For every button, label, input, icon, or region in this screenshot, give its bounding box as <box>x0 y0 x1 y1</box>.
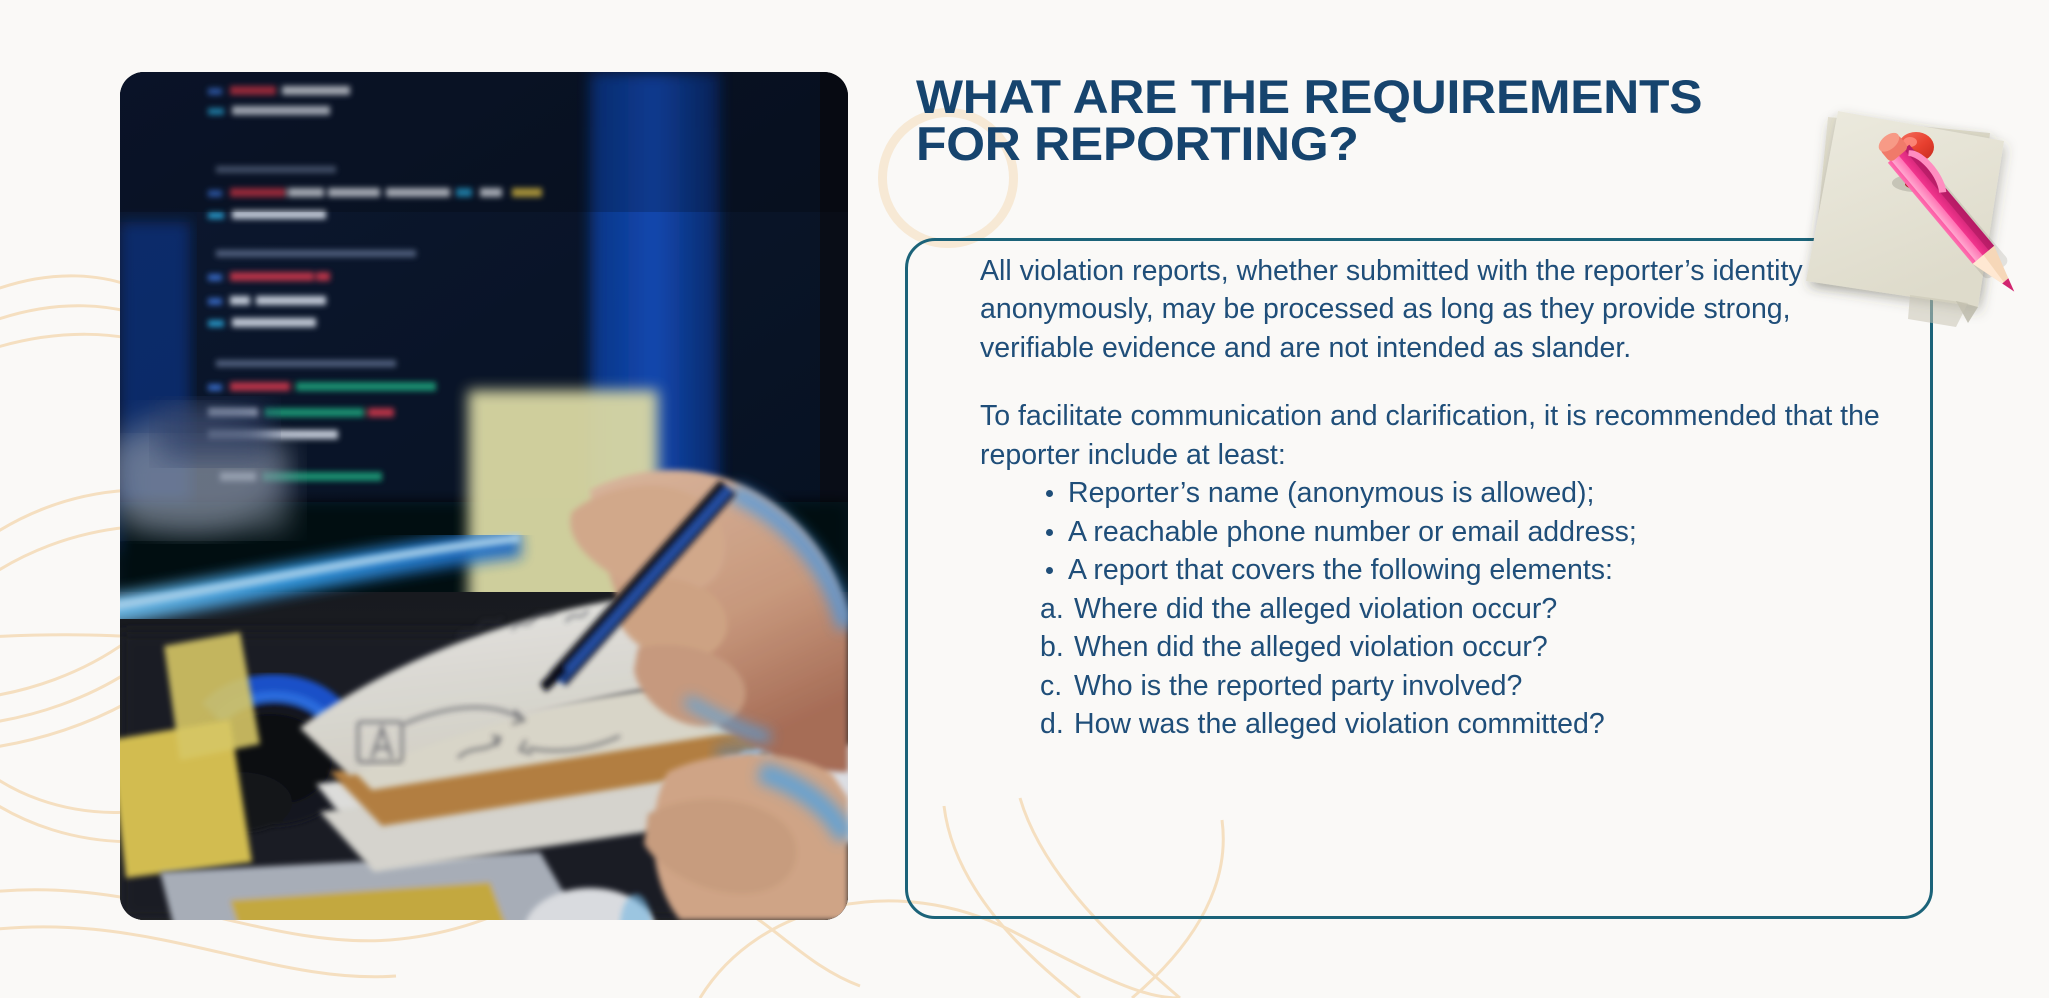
desk-photo <box>120 72 848 920</box>
paragraph-recommendation: To facilitate communication and clarific… <box>980 397 1880 474</box>
list-item: Who is the reported party involved? <box>1040 667 1880 705</box>
paragraph-spacer <box>980 367 1880 397</box>
list-item: How was the alleged violation committed? <box>1040 705 1880 743</box>
list-item: Where did the alleged violation occur? <box>1040 590 1880 628</box>
info-card-content: All violation reports, whether submitted… <box>980 252 1880 744</box>
list-item: Reporter’s name (anonymous is allowed); <box>1046 474 1880 512</box>
requirements-list: Reporter’s name (anonymous is allowed); … <box>980 474 1880 589</box>
page-title-line-2: FOR REPORTING? <box>916 120 1987 167</box>
content-column: WHAT ARE THE REQUIREMENTS FOR REPORTING?… <box>905 0 1945 998</box>
list-item: A report that covers the following eleme… <box>1046 551 1880 589</box>
list-item: When did the alleged violation occur? <box>1040 628 1880 666</box>
list-item: A reachable phone number or email addres… <box>1046 513 1880 551</box>
report-elements-list: Where did the alleged violation occur? W… <box>980 590 1880 744</box>
page-title-line-1: WHAT ARE THE REQUIREMENTS <box>916 73 1987 120</box>
slide-canvas: WHAT ARE THE REQUIREMENTS FOR REPORTING?… <box>0 0 2049 998</box>
paragraph-intro: All violation reports, whether submitted… <box>980 252 1880 367</box>
page-title: WHAT ARE THE REQUIREMENTS FOR REPORTING? <box>916 73 1987 167</box>
